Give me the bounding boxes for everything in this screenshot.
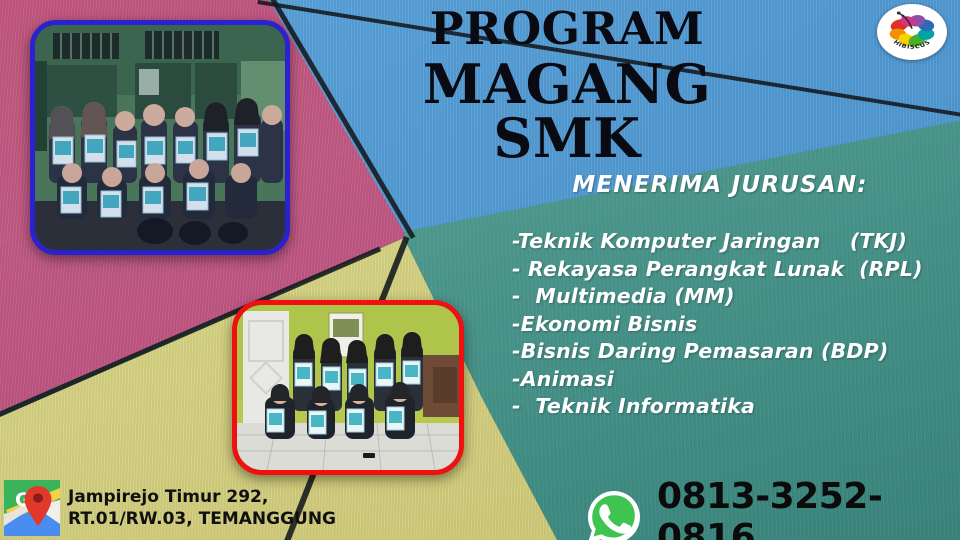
- address-block: G Jampirejo Timur 292,RT.01/RW.03, TEMAN…: [4, 480, 336, 536]
- poster-root: PROGRAM MAGANG SMK HIBISCUS: [0, 0, 960, 540]
- whatsapp-icon-glyph: [585, 488, 643, 540]
- major-item: -Teknik Komputer Jaringan (TKJ): [512, 228, 960, 256]
- hibiscus-flower-icon: HIBISCUS: [877, 4, 947, 60]
- whatsapp-icon[interactable]: [585, 488, 643, 540]
- title-line-2: MAGANG SMK: [352, 57, 782, 165]
- photo-group-outdoor-image: [35, 25, 285, 250]
- photo-group-indoor-image: [237, 305, 459, 470]
- majors-list: -Teknik Komputer Jaringan (TKJ) - Rekaya…: [512, 228, 960, 421]
- google-maps-icon-glyph: G: [4, 480, 60, 536]
- hibiscus-academy-logo: HIBISCUS: [877, 4, 947, 60]
- title-line-1: PROGRAM: [352, 6, 782, 51]
- whatsapp-block[interactable]: 0813-3252-0816: [585, 476, 960, 540]
- address-line-1: Jampirejo Timur 292,: [68, 487, 268, 507]
- major-item: -Animasi: [512, 366, 960, 394]
- major-item: - Teknik Informatika: [512, 393, 960, 421]
- majors-heading: MENERIMA JURUSAN:: [520, 172, 920, 198]
- major-item: - Rekayasa Perangkat Lunak (RPL): [512, 256, 960, 284]
- photo-group-indoor: [232, 300, 464, 475]
- major-item: -Ekonomi Bisnis: [512, 311, 960, 339]
- poster-title: PROGRAM MAGANG SMK: [352, 6, 782, 165]
- major-item: -Bisnis Daring Pemasaran (BDP): [512, 338, 960, 366]
- address-text: Jampirejo Timur 292,RT.01/RW.03, TEMANGG…: [68, 480, 336, 530]
- address-line-2: RT.01/RW.03, TEMANGGUNG: [68, 509, 336, 529]
- google-maps-icon: G: [4, 480, 60, 536]
- photo-group-outdoor: [30, 20, 290, 255]
- major-item: - Multimedia (MM): [512, 283, 960, 311]
- whatsapp-phone-number[interactable]: 0813-3252-0816: [657, 476, 960, 540]
